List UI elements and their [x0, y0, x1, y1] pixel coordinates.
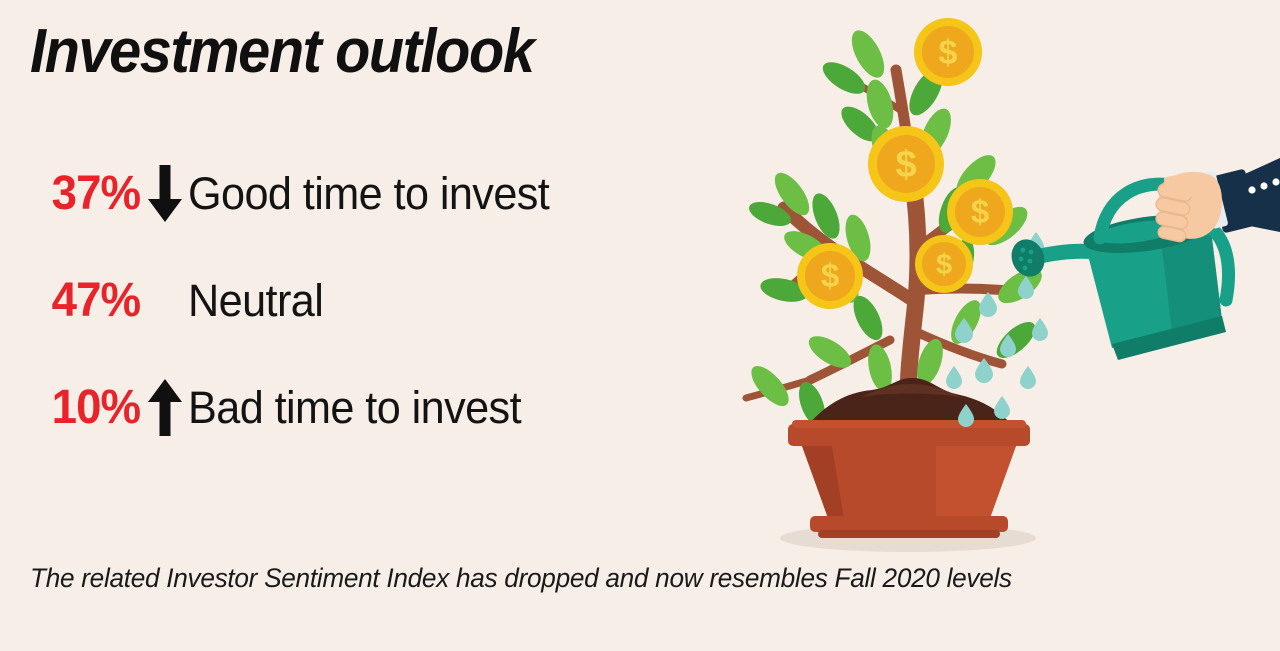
- stat-row-neutral: 47% Neutral: [0, 247, 700, 354]
- coin: $: [947, 179, 1013, 245]
- stat-label: Good time to invest: [188, 168, 549, 220]
- investment-outlook-infographic: Investment outlook 37% Good time to inve…: [0, 0, 1280, 651]
- stat-percent: 47%: [7, 273, 142, 328]
- stats-list: 37% Good time to invest 47% Neutral 10% …: [0, 140, 700, 461]
- flower-pot: [788, 420, 1030, 538]
- svg-text:$: $: [971, 193, 989, 230]
- svg-text:$: $: [821, 257, 839, 294]
- stat-label: Neutral: [188, 275, 323, 327]
- page-title: Investment outlook: [30, 16, 533, 87]
- stat-row-good-time: 37% Good time to invest: [0, 140, 700, 247]
- money-tree-watering-illustration: $ $ $ $: [740, 0, 1280, 600]
- coin: $: [797, 243, 863, 309]
- coin: $: [915, 235, 973, 293]
- stat-label: Bad time to invest: [188, 382, 521, 434]
- coin: $: [914, 18, 982, 86]
- coin: $: [868, 126, 944, 202]
- stat-row-bad-time: 10% Bad time to invest: [0, 354, 700, 461]
- up-arrow-icon: [142, 379, 188, 437]
- svg-text:$: $: [895, 144, 916, 186]
- svg-text:$: $: [939, 34, 958, 72]
- down-arrow-icon: [142, 165, 188, 223]
- stat-percent: 10%: [7, 380, 142, 435]
- svg-text:$: $: [936, 249, 952, 281]
- stat-percent: 37%: [7, 166, 142, 221]
